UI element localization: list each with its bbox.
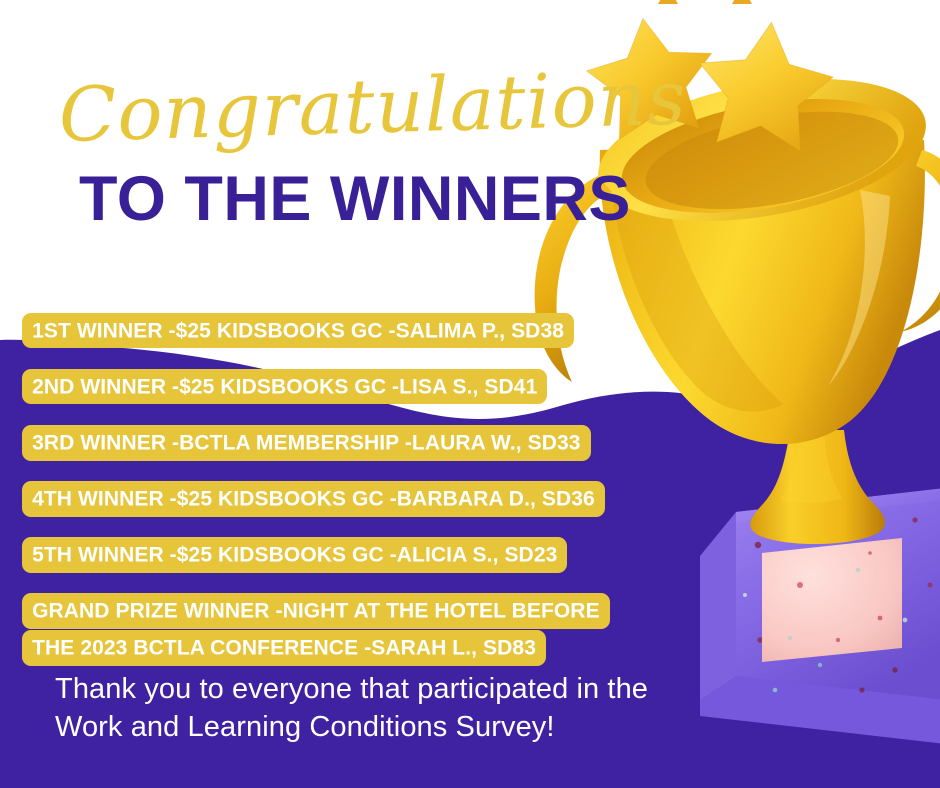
trophy-stem <box>750 430 885 544</box>
winner-row-2: 2ND WINNER -$25 KIDSBOOKS GC -LISA S., S… <box>22 369 702 405</box>
winner-row-3: 3RD WINNER -BCTLA MEMBERSHIP -LAURA W., … <box>22 425 702 461</box>
trophy-plaque <box>762 538 902 662</box>
star-right-icon <box>692 15 838 153</box>
winner-pill-4: 4TH WINNER -$25 KIDSBOOKS GC -BARBARA D.… <box>22 481 605 517</box>
winners-list: 1ST WINNER -$25 KIDSBOOKS GC -SALIMA P.,… <box>22 313 702 667</box>
winner-row-4: 4TH WINNER -$25 KIDSBOOKS GC -BARBARA D.… <box>22 481 702 517</box>
trophy-base <box>700 488 940 744</box>
thank-you-message: Thank you to everyone that participated … <box>55 670 715 747</box>
winner-pill-2: 2ND WINNER -$25 KIDSBOOKS GC -LISA S., S… <box>22 369 547 405</box>
winner-pill-3: 3RD WINNER -BCTLA MEMBERSHIP -LAURA W., … <box>22 425 591 461</box>
congratulations-poster: Congratulations TO THE WINNERS 1ST WINNE… <box>0 0 940 788</box>
star-sparkle-top <box>658 0 752 4</box>
winner-row-1: 1ST WINNER -$25 KIDSBOOKS GC -SALIMA P.,… <box>22 313 702 349</box>
winner-pill-5: 5TH WINNER -$25 KIDSBOOKS GC -ALICIA S.,… <box>22 537 567 573</box>
winner-pill-1: 1ST WINNER -$25 KIDSBOOKS GC -SALIMA P.,… <box>22 313 574 349</box>
winner-pill-grand: GRAND PRIZE WINNER -NIGHT AT THE HOTEL B… <box>22 593 610 666</box>
winner-row-grand: GRAND PRIZE WINNER -NIGHT AT THE HOTEL B… <box>22 594 642 668</box>
winner-row-5: 5TH WINNER -$25 KIDSBOOKS GC -ALICIA S.,… <box>22 537 702 573</box>
page-title: TO THE WINNERS <box>79 168 631 231</box>
script-heading: Congratulations <box>58 61 687 153</box>
